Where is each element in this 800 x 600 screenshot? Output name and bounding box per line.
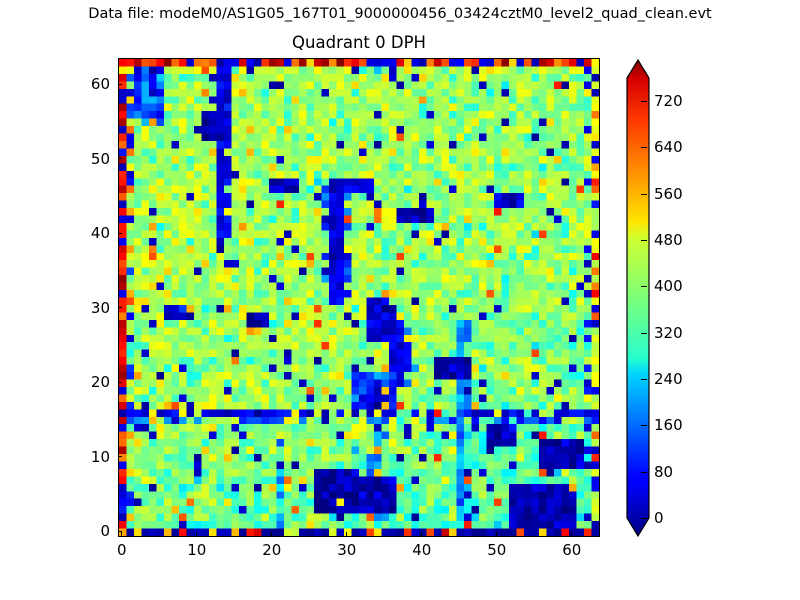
heatmap-image[interactable] <box>119 59 599 536</box>
y-tick-mark <box>118 456 122 457</box>
x-tick-label-20: 20 <box>262 541 281 559</box>
y-tick-mark <box>118 382 122 383</box>
x-tick-label-30: 30 <box>337 541 356 559</box>
colorbar-tick-label-560: 560 <box>654 185 683 203</box>
colorbar-tick-mark <box>641 425 647 426</box>
x-tick-mark <box>496 532 497 536</box>
colorbar[interactable]: 080160240320400480560640720 <box>626 56 726 540</box>
x-tick-mark <box>271 532 272 536</box>
y-tick-mark <box>118 84 122 85</box>
y-tick-label-40: 40 <box>62 224 110 242</box>
y-tick-mark <box>118 307 122 308</box>
y-tick-mark <box>118 158 122 159</box>
data-file-suptitle: Data file: modeM0/AS1G05_167T01_90000004… <box>0 6 800 22</box>
colorbar-tick-mark <box>641 379 647 380</box>
colorbar-tick-label-160: 160 <box>654 416 683 434</box>
x-tick-mark <box>346 532 347 536</box>
y-tick-label-50: 50 <box>62 150 110 168</box>
y-tick-label-10: 10 <box>62 448 110 466</box>
heatmap-plot-area[interactable] <box>118 58 600 537</box>
colorbar-tick-label-0: 0 <box>654 509 664 527</box>
figure-canvas: Data file: modeM0/AS1G05_167T01_90000004… <box>0 0 800 600</box>
y-tick-label-30: 30 <box>62 299 110 317</box>
colorbar-tick-label-240: 240 <box>654 370 683 388</box>
colorbar-tick-label-320: 320 <box>654 324 683 342</box>
page-title: Quadrant 0 DPH <box>118 33 600 52</box>
colorbar-tick-mark <box>641 240 647 241</box>
x-tick-mark <box>421 532 422 536</box>
colorbar-tick-label-720: 720 <box>654 92 683 110</box>
y-tick-mark <box>118 233 122 234</box>
x-tick-mark <box>196 532 197 536</box>
x-tick-label-50: 50 <box>487 541 506 559</box>
colorbar-tick-mark <box>641 101 647 102</box>
colorbar-tick-mark <box>641 147 647 148</box>
colorbar-tick-mark <box>641 333 647 334</box>
colorbar-tick-label-480: 480 <box>654 231 683 249</box>
x-tick-label-40: 40 <box>412 541 431 559</box>
colorbar-tick-mark <box>641 518 647 519</box>
y-tick-mark <box>118 531 122 532</box>
colorbar-tick-mark <box>641 286 647 287</box>
y-tick-label-20: 20 <box>62 373 110 391</box>
colorbar-gradient <box>626 56 652 540</box>
y-tick-label-60: 60 <box>62 75 110 93</box>
x-tick-label-60: 60 <box>562 541 581 559</box>
colorbar-tick-label-640: 640 <box>654 138 683 156</box>
colorbar-tick-label-80: 80 <box>654 463 673 481</box>
x-tick-label-0: 0 <box>117 541 127 559</box>
colorbar-tick-label-400: 400 <box>654 277 683 295</box>
x-tick-mark <box>121 532 122 536</box>
y-tick-label-0: 0 <box>62 522 110 540</box>
x-tick-label-10: 10 <box>187 541 206 559</box>
x-tick-mark <box>571 532 572 536</box>
colorbar-tick-mark <box>641 194 647 195</box>
colorbar-tick-mark <box>641 472 647 473</box>
